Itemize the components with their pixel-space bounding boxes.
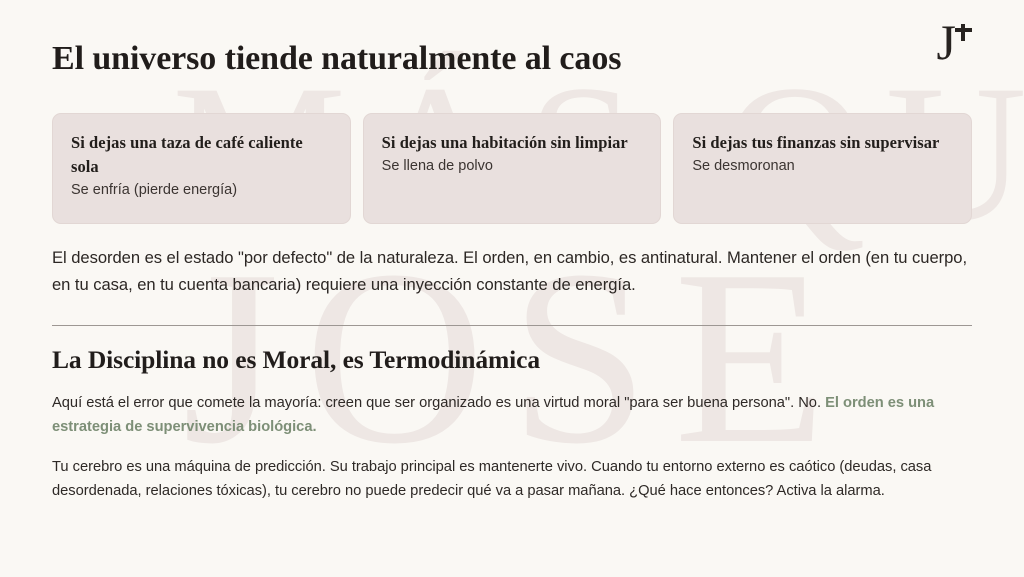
fact-card: Si dejas tus finanzas sin supervisar Se … bbox=[673, 113, 972, 224]
fact-card-description: Se enfría (pierde energía) bbox=[71, 180, 332, 200]
page-title: El universo tiende naturalmente al caos bbox=[52, 41, 972, 78]
brand-logo-letter: J bbox=[937, 22, 956, 63]
fact-card-title: Si dejas una taza de café caliente sola bbox=[71, 131, 332, 179]
fact-card-title: Si dejas tus finanzas sin supervisar bbox=[692, 131, 953, 155]
slide-header: El universo tiende naturalmente al caos … bbox=[52, 0, 972, 93]
body-paragraph-2: Tu cerebro es una máquina de predicción.… bbox=[52, 456, 972, 504]
body-paragraph-1: Aquí está el error que comete la mayoría… bbox=[52, 392, 972, 440]
slide-root: MÁS QUE JOSE El universo tiende naturalm… bbox=[0, 0, 1024, 577]
section-heading: La Disciplina no es Moral, es Termodinám… bbox=[52, 345, 972, 375]
fact-card: Si dejas una taza de café caliente sola … bbox=[52, 113, 351, 224]
fact-card-title: Si dejas una habitación sin limpiar bbox=[382, 131, 643, 155]
fact-card: Si dejas una habitación sin limpiar Se l… bbox=[363, 113, 662, 224]
brand-logo: J bbox=[937, 22, 972, 63]
lead-paragraph: El desorden es el estado "por defecto" d… bbox=[52, 245, 972, 299]
fact-card-description: Se llena de polvo bbox=[382, 156, 643, 176]
cross-mark-icon bbox=[955, 24, 972, 41]
fact-card-row: Si dejas una taza de café caliente sola … bbox=[52, 113, 972, 224]
section-divider bbox=[52, 325, 972, 326]
body-paragraph-1-lead: Aquí está el error que comete la mayoría… bbox=[52, 395, 825, 411]
fact-card-description: Se desmoronan bbox=[692, 156, 953, 176]
slide-content: El universo tiende naturalmente al caos … bbox=[0, 0, 1024, 504]
